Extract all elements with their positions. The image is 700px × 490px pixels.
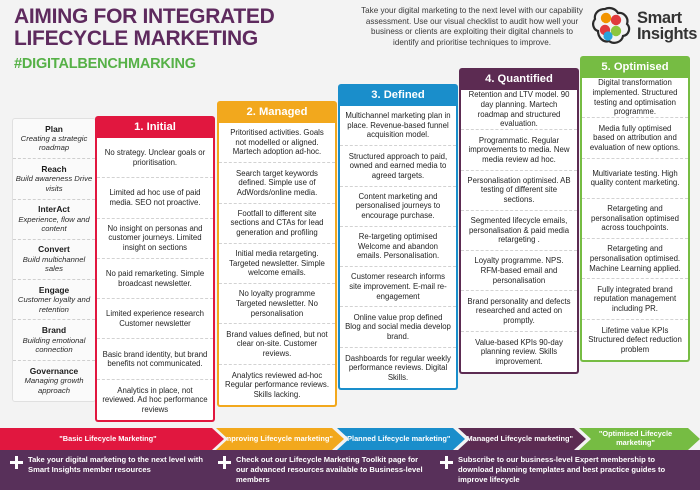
row-label-title: Brand <box>42 326 66 336</box>
stage-banner-5: "Optimised Lifecycle marketing" <box>579 428 700 450</box>
stage-header-5[interactable]: 5. Optimised <box>580 56 690 78</box>
cell-3-5: Customer research informs site improveme… <box>340 267 456 307</box>
stage-column-1[interactable]: 1. InitialNo strategy. Unclear goals or … <box>95 116 215 422</box>
cell-2-6: Brand values defined, but not clear on-s… <box>219 324 335 364</box>
cell-2-7: Analytics reviewed ad-hoc Regular perfor… <box>219 365 335 405</box>
cell-4-5: Loyalty programme. NPS. RFM-based email … <box>461 251 577 291</box>
row-label-subtitle: Managing growth approach <box>15 376 93 395</box>
footer-cta-1[interactable]: Take your digital marketing to the next … <box>10 455 210 475</box>
row-label-engage: EngageCustomer loyalty and retention <box>13 280 95 320</box>
cell-1-3: No insight on personas and customer jour… <box>97 219 213 259</box>
row-label-title: InterAct <box>38 205 70 215</box>
cell-1-4: No paid remarketing. Simple broadcast ne… <box>97 259 213 299</box>
footer-cta-bar: Take your digital marketing to the next … <box>0 450 700 490</box>
stage-header-2[interactable]: 2. Managed <box>217 101 337 123</box>
cell-5-4: Retargeting and personalisation optimise… <box>582 199 688 239</box>
cell-5-3: Multivariate testing. High quality conte… <box>582 159 688 199</box>
cell-4-1: Retention and LTV model. 90 day planning… <box>461 90 577 130</box>
stage-banner-label: "Managed Lifecycle marketing" <box>463 435 581 444</box>
title-line-2: LIFECYCLE MARKETING <box>14 28 274 50</box>
stage-banner-3: "Planned Lifecycle marketing" <box>337 428 465 450</box>
cell-3-2: Structured approach to paid, owned and e… <box>340 146 456 186</box>
cell-3-6: Online value prop defined Blog and socia… <box>340 307 456 347</box>
intro-text: Take your digital marketing to the next … <box>358 6 586 48</box>
row-label-convert: ConvertBuild multichannel sales <box>13 240 95 280</box>
cell-2-2: Search target keywords defined. Simple u… <box>219 163 335 203</box>
stage-banner-4: "Managed Lifecycle marketing" <box>458 428 586 450</box>
row-label-reach: ReachBuild awareness Drive visits <box>13 159 95 199</box>
cell-5-7: Lifetime value KPIs Structured defect re… <box>582 320 688 360</box>
row-label-title: Engage <box>39 286 69 296</box>
stage-banner-row: "Basic Lifecycle Marketing""Improving Li… <box>0 428 700 450</box>
cell-1-6: Basic brand identity, but brand benefits… <box>97 339 213 379</box>
stage-body-4: Retention and LTV model. 90 day planning… <box>459 90 579 374</box>
cell-5-6: Fully integrated brand reputation manage… <box>582 279 688 319</box>
logo-word-insights: Insights <box>637 26 697 42</box>
stage-banner-2: "Improving Lifecycle marketing" <box>216 428 344 450</box>
cell-1-2: Limited ad hoc use of paid media. SEO no… <box>97 178 213 218</box>
stage-body-2: Pritoritised activities. Goals not model… <box>217 123 337 407</box>
infographic-root: AIMING FOR INTEGRATED LIFECYCLE MARKETIN… <box>0 0 700 490</box>
cell-3-7: Dashboards for regular weekly performanc… <box>340 348 456 388</box>
stage-column-5[interactable]: 5. OptimisedDigital transformation imple… <box>580 56 690 362</box>
cell-5-5: Retargeting and personalisation optimise… <box>582 239 688 279</box>
stage-banner-label: "Optimised Lifecycle marketing" <box>579 430 700 447</box>
cell-2-5: No loyalty programme Targeted newsletter… <box>219 284 335 324</box>
stage-column-2[interactable]: 2. ManagedPritoritised activities. Goals… <box>217 101 337 407</box>
cell-1-5: Limited experience research Customer new… <box>97 299 213 339</box>
row-label-brand: BrandBuilding emotional connection <box>13 320 95 360</box>
cell-4-7: Value-based KPIs 90-day planning review.… <box>461 332 577 372</box>
row-label-subtitle: Building emotional connection <box>15 336 93 355</box>
stage-banner-label: "Planned Lifecycle marketing" <box>344 435 459 444</box>
stage-header-3[interactable]: 3. Defined <box>338 84 458 106</box>
stage-banner-label: "Basic Lifecycle Marketing" <box>59 435 164 444</box>
cell-2-1: Pritoritised activities. Goals not model… <box>219 123 335 163</box>
row-label-title: Governance <box>30 367 78 377</box>
plus-icon <box>10 456 23 469</box>
cell-2-4: Initial media retargeting. Targeted news… <box>219 244 335 284</box>
logo-wordmark: Smart Insights <box>637 10 697 42</box>
title-line-1: AIMING FOR INTEGRATED <box>14 6 274 28</box>
row-label-title: Plan <box>45 125 63 135</box>
row-label-subtitle: Creating a strategic roadmap <box>15 134 93 153</box>
stage-header-1[interactable]: 1. Initial <box>95 116 215 138</box>
plus-icon <box>218 456 231 469</box>
cell-5-2: Media fully optimised based on attributi… <box>582 118 688 158</box>
row-label-subtitle: Build multichannel sales <box>15 255 93 274</box>
stage-header-4[interactable]: 4. Quantified <box>459 68 579 90</box>
stage-column-3[interactable]: 3. DefinedMultichannel marketing plan in… <box>338 84 458 390</box>
header: AIMING FOR INTEGRATED LIFECYCLE MARKETIN… <box>0 0 700 62</box>
maturity-grid: PlanCreating a strategic roadmapReachBui… <box>0 56 700 428</box>
footer-cta-label: Take your digital marketing to the next … <box>28 455 210 475</box>
cell-4-2: Programmatic. Regular improvements to me… <box>461 130 577 170</box>
row-label-title: Convert <box>38 245 70 255</box>
stage-banner-label: "Improving Lifecycle marketing" <box>219 435 341 444</box>
row-label-governance: GovernanceManaging growth approach <box>13 361 95 401</box>
cell-4-6: Brand personality and defects researched… <box>461 291 577 331</box>
row-label-interact: InterActExperience, flow and content <box>13 200 95 240</box>
footer-cta-label: Subscribe to our business-level Expert m… <box>458 455 690 484</box>
row-label-title: Reach <box>41 165 66 175</box>
footer-cta-3[interactable]: Subscribe to our business-level Expert m… <box>440 455 690 484</box>
cell-3-1: Multichannel marketing plan in place. Re… <box>340 106 456 146</box>
stage-banner-1: "Basic Lifecycle Marketing" <box>0 428 224 450</box>
smart-insights-logo-icon <box>592 6 632 46</box>
stage-column-4[interactable]: 4. QuantifiedRetention and LTV model. 90… <box>459 68 579 374</box>
row-label-subtitle: Experience, flow and content <box>15 215 93 234</box>
footer-cta-2[interactable]: Check out our Lifecycle Marketing Toolki… <box>218 455 430 484</box>
plus-icon <box>440 456 453 469</box>
cell-3-3: Content marketing and personalised journ… <box>340 187 456 227</box>
footer-cta-label: Check out our Lifecycle Marketing Toolki… <box>236 455 430 484</box>
cell-4-4: Segmented lifecycle emails, personalisat… <box>461 211 577 251</box>
cell-2-3: Footfall to different site sections and … <box>219 204 335 244</box>
stage-body-1: No strategy. Unclear goals or prioritisa… <box>95 138 215 422</box>
brand-logo: Smart Insights <box>592 6 697 46</box>
cell-4-3: Personalisation optimised. AB testing of… <box>461 171 577 211</box>
cell-3-4: Re-targeting optimised Welcome and aband… <box>340 227 456 267</box>
logo-word-smart: Smart <box>637 10 697 26</box>
row-label-subtitle: Customer loyalty and retention <box>15 295 93 314</box>
row-label-column: PlanCreating a strategic roadmapReachBui… <box>12 118 96 402</box>
cell-1-1: No strategy. Unclear goals or prioritisa… <box>97 138 213 178</box>
cell-1-7: Analytics in place, not reviewed. Ad hoc… <box>97 380 213 420</box>
stage-body-5: Digital transformation implemented. Stru… <box>580 78 690 362</box>
stage-body-3: Multichannel marketing plan in place. Re… <box>338 106 458 390</box>
row-label-subtitle: Build awareness Drive visits <box>15 174 93 193</box>
row-label-plan: PlanCreating a strategic roadmap <box>13 119 95 159</box>
cell-5-1: Digital transformation implemented. Stru… <box>582 78 688 118</box>
